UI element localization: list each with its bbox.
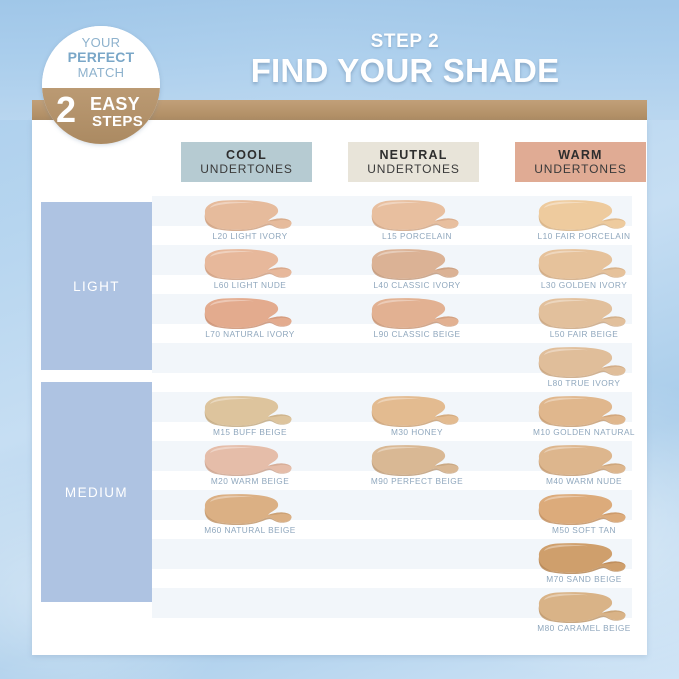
column-header-neutral-name: NEUTRAL [379,148,447,162]
shade-label: M90 PERFECT BEIGE [337,476,497,486]
shade-swatch-cell[interactable]: M50 SOFT TAN [504,493,664,541]
column-header-neutral: NEUTRAL UNDERTONES [348,142,479,182]
shade-swatch-cell[interactable]: M30 HONEY [337,395,497,443]
shade-label: M15 BUFF BEIGE [170,427,330,437]
foundation-smear-icon [198,395,298,427]
shade-label: M50 SOFT TAN [504,525,664,535]
shade-swatch-cell[interactable]: M15 BUFF BEIGE [170,395,330,443]
foundation-smear-icon [365,444,465,476]
shade-label: M40 WARM NUDE [504,476,664,486]
foundation-smear-icon [365,297,465,329]
shade-swatch-cell[interactable]: L10 FAIR PORCELAIN [504,199,664,247]
badge-step-number: 2 [56,92,76,128]
foundation-smear-icon [198,493,298,525]
foundation-smear-icon [365,199,465,231]
shade-swatch-cell[interactable]: M60 NATURAL BEIGE [170,493,330,541]
shade-label: L15 PORCELAIN [337,231,497,241]
shade-swatch-cell[interactable]: L80 TRUE IVORY [504,346,664,394]
foundation-smear-icon [532,493,632,525]
foundation-smear-icon [365,248,465,280]
shade-swatch-cell[interactable]: L50 FAIR BEIGE [504,297,664,345]
column-header-warm-name: WARM [558,148,602,162]
shade-label: L20 LIGHT IVORY [170,231,330,241]
badge-line-steps: STEPS [92,113,143,130]
column-header-warm-sub: UNDERTONES [534,162,627,176]
shade-swatch-cell[interactable]: L15 PORCELAIN [337,199,497,247]
foundation-smear-icon [532,346,632,378]
shade-swatch-cell[interactable]: M10 GOLDEN NATURAL [504,395,664,443]
badge-line-perfect: PERFECT [42,49,160,65]
shade-label: M80 CARAMEL BEIGE [504,623,664,633]
level-block-light: LIGHT [41,202,152,370]
foundation-smear-icon [532,591,632,623]
shade-label: M70 SAND BEIGE [504,574,664,584]
shade-swatch-cell[interactable]: L90 CLASSIC BEIGE [337,297,497,345]
shade-label: M20 WARM BEIGE [170,476,330,486]
column-header-cool-name: COOL [226,148,267,162]
badge-line-your: YOUR [42,35,160,50]
shade-swatch-cell[interactable]: M20 WARM BEIGE [170,444,330,492]
column-header-neutral-sub: UNDERTONES [367,162,460,176]
page-title: FIND YOUR SHADE [205,52,605,90]
foundation-smear-icon [198,248,298,280]
foundation-smear-icon [532,444,632,476]
foundation-smear-icon [365,395,465,427]
shade-swatch-cell[interactable]: L70 NATURAL IVORY [170,297,330,345]
shade-label: L70 NATURAL IVORY [170,329,330,339]
foundation-smear-icon [532,395,632,427]
shade-swatch-cell[interactable]: M80 CARAMEL BEIGE [504,591,664,639]
shade-swatch-cell[interactable]: L60 LIGHT NUDE [170,248,330,296]
column-header-cool: COOL UNDERTONES [181,142,312,182]
shade-label: L60 LIGHT NUDE [170,280,330,290]
column-header-warm: WARM UNDERTONES [515,142,646,182]
shade-label: M30 HONEY [337,427,497,437]
badge-line-match: MATCH [42,65,160,80]
shade-swatch-cell[interactable]: M90 PERFECT BEIGE [337,444,497,492]
foundation-smear-icon [198,444,298,476]
foundation-smear-icon [532,199,632,231]
shade-label: L90 CLASSIC BEIGE [337,329,497,339]
shade-label: L50 FAIR BEIGE [504,329,664,339]
level-block-medium: MEDIUM [41,382,152,602]
step-label: STEP 2 [205,31,605,53]
shade-swatch-cell[interactable]: M40 WARM NUDE [504,444,664,492]
shade-swatch-cell[interactable]: L20 LIGHT IVORY [170,199,330,247]
shade-label: L10 FAIR PORCELAIN [504,231,664,241]
foundation-smear-icon [532,297,632,329]
shade-swatch-cell[interactable]: L40 CLASSIC IVORY [337,248,497,296]
shade-label: L80 TRUE IVORY [504,378,664,388]
shade-label: L40 CLASSIC IVORY [337,280,497,290]
badge-line-easy: EASY [90,94,140,115]
shade-label: M60 NATURAL BEIGE [170,525,330,535]
shade-swatch-cell[interactable]: M70 SAND BEIGE [504,542,664,590]
foundation-smear-icon [198,297,298,329]
foundation-smear-icon [198,199,298,231]
perfect-match-badge: YOUR PERFECT MATCH 2 EASY STEPS [42,26,160,144]
shade-label: L30 GOLDEN IVORY [504,280,664,290]
column-header-cool-sub: UNDERTONES [200,162,293,176]
shade-label: M10 GOLDEN NATURAL [504,427,664,437]
shade-swatch-cell[interactable]: L30 GOLDEN IVORY [504,248,664,296]
foundation-smear-icon [532,542,632,574]
foundation-smear-icon [532,248,632,280]
